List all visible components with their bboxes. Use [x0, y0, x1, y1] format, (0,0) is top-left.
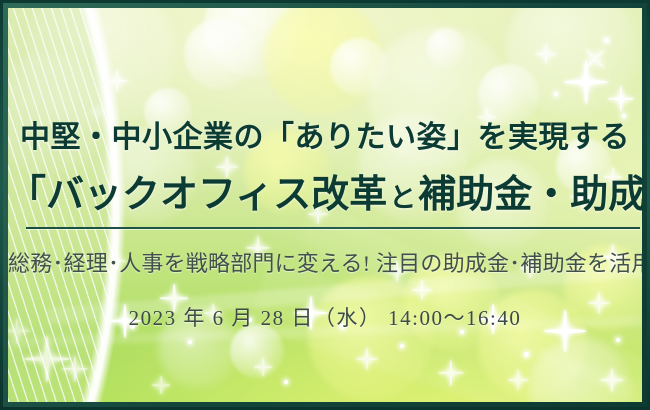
title-line-2-part-b: 補助金・助成金」 [418, 174, 642, 216]
title-divider [26, 227, 640, 229]
event-datetime: 2023 年 6 月 28 日（水） 14:00〜16:40 [8, 302, 642, 332]
title-line-2-part-a: 「バックオフィス改革 [8, 174, 387, 216]
banner-artboard: 中堅・中小企業の「ありたい姿」を実現する 「バックオフィス改革と補助金・助成金」… [8, 8, 642, 402]
seminar-banner: 中堅・中小企業の「ありたい姿」を実現する 「バックオフィス改革と補助金・助成金」… [0, 0, 650, 410]
subtitle-text: 総務･経理･人事を戦略部門に変える! 注目の助成金･補助金を活用する！ [8, 246, 642, 278]
title-line-2: 「バックオフィス改革と補助金・助成金」セミナー [8, 163, 642, 218]
title-line-1: 中堅・中小企業の「ありたい姿」を実現する [8, 112, 642, 156]
title-line-2-conjunction: と [387, 183, 418, 213]
banner-content: 中堅・中小企業の「ありたい姿」を実現する 「バックオフィス改革と補助金・助成金」… [8, 8, 642, 402]
